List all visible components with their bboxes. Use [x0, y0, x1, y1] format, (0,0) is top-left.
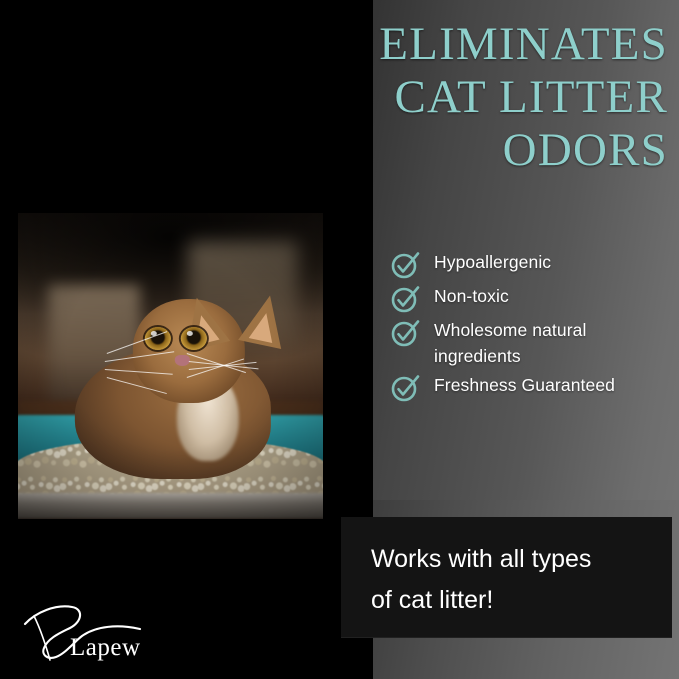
callout-line-2: of cat litter!	[371, 580, 651, 621]
feature-label: Non-toxic	[434, 283, 509, 309]
callout-text: Works with all types of cat litter!	[371, 539, 651, 621]
callout-line-1: Works with all types	[371, 539, 651, 580]
callout-panel: Works with all types of cat litter!	[341, 517, 672, 638]
brand-logo: Lapew	[22, 602, 172, 664]
feature-list: Hypoallergenic Non-toxic Wholesome natur…	[390, 249, 672, 406]
check-circle-icon	[390, 318, 420, 348]
product-advertisement: ELIMINATES CAT LITTER ODORS	[0, 0, 679, 679]
logo-wordmark: Lapew	[70, 635, 141, 661]
list-item: Freshness Guaranteed	[390, 372, 672, 403]
headline-line-3: ODORS	[238, 124, 668, 177]
product-photo	[18, 213, 323, 519]
check-circle-icon	[390, 284, 420, 314]
kitten-illustration	[80, 271, 276, 467]
headline-line-1: ELIMINATES	[238, 18, 668, 71]
check-circle-icon	[390, 373, 420, 403]
headline: ELIMINATES CAT LITTER ODORS	[238, 18, 668, 177]
list-item: Hypoallergenic	[390, 249, 672, 280]
litter-box-rim	[18, 493, 323, 519]
list-item: Non-toxic	[390, 283, 672, 314]
feature-label: Hypoallergenic	[434, 249, 551, 275]
feature-label: Freshness Guaranteed	[434, 372, 615, 398]
kitten-whiskers	[66, 347, 276, 407]
list-item: Wholesome natural ingredients	[390, 317, 672, 369]
headline-line-2: CAT LITTER	[238, 71, 668, 124]
check-circle-icon	[390, 250, 420, 280]
feature-label: Wholesome natural ingredients	[434, 317, 672, 369]
